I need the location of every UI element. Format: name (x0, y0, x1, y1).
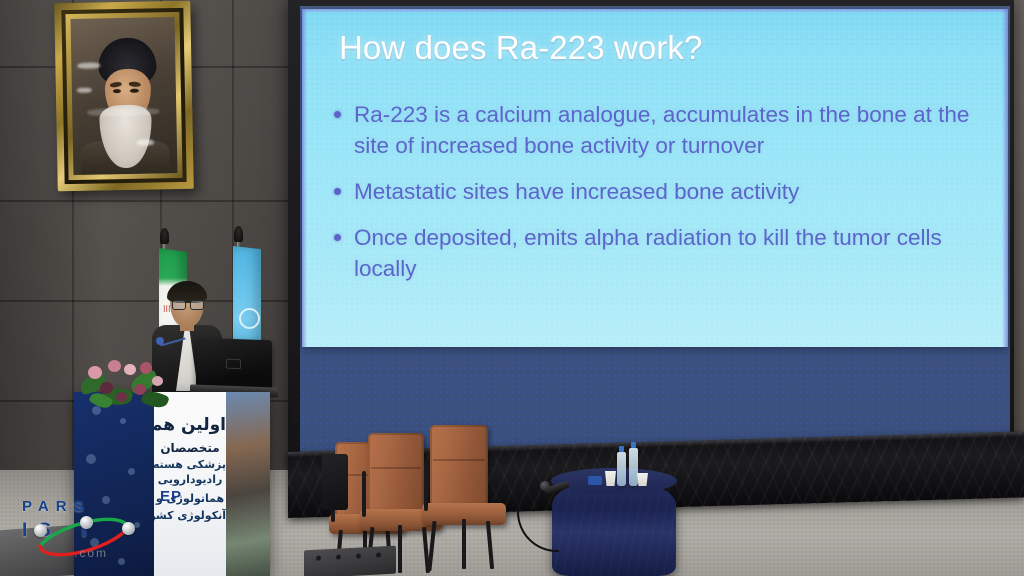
paper-cup (605, 471, 616, 486)
flag-finial-left (160, 228, 169, 244)
podium-banner: اولین همایش متخصصان پزشکی هسته‌ای رادیود… (154, 392, 226, 576)
slide-bullet-item: Metastatic sites have increased bone act… (326, 176, 986, 207)
slide-edge-left (302, 9, 307, 347)
slide-edge-top (302, 9, 1008, 13)
paper-cup (637, 473, 648, 486)
slide-edge-right (1002, 9, 1008, 347)
presentation-slide: How does Ra-223 work? Ra-223 is a calciu… (302, 9, 1008, 347)
equipment-case (322, 454, 348, 510)
blue-flag (233, 246, 261, 350)
slide-bullet-item: Ra-223 is a calcium analogue, accumulate… (326, 99, 986, 161)
banner-line-2: متخصصان (154, 442, 226, 455)
projection-screen-surface: How does Ra-223 work? Ra-223 is a calciu… (300, 6, 1010, 468)
table-cloth (552, 480, 676, 576)
laptop-logo-icon (226, 359, 241, 370)
slide-bullet-list: Ra-223 is a calcium analogue, accumulate… (326, 99, 986, 299)
banner-line-4: رادیودارویی (154, 474, 226, 486)
slide-bullet-text: Once deposited, emits alpha radiation to… (354, 222, 986, 284)
slide-bullet-text: Ra-223 is a calcium analogue, accumulate… (354, 99, 986, 161)
bullet-dot-icon (334, 188, 341, 195)
water-bottle (629, 448, 638, 486)
framed-portrait (54, 1, 194, 192)
tissue-box (588, 476, 602, 485)
conference-photo-scene: ااا How does Ra-223 work? Ra-223 is a ca… (0, 0, 1024, 576)
banner-line-3: پزشکی هسته‌ای (154, 459, 226, 471)
flower-arrangement (78, 348, 174, 408)
glasses-icon (172, 300, 202, 308)
banner-line-6: آنکولوژی کشور (154, 510, 226, 522)
slide-title: How does Ra-223 work? (339, 29, 702, 67)
podium-right-panel (226, 392, 270, 576)
stage-monitor-wedge (304, 546, 396, 576)
side-table (551, 468, 677, 576)
microphone-head-icon (540, 481, 550, 491)
slide-bullet-text: Metastatic sites have increased bone act… (354, 176, 799, 207)
bullet-dot-icon (334, 111, 341, 118)
flag-finial-right (234, 226, 243, 242)
water-bottle (617, 452, 626, 486)
podium: اولین همایش متخصصان پزشکی هسته‌ای رادیود… (74, 392, 270, 576)
podium-microphone-head-icon (156, 337, 164, 345)
podium-left-panel (74, 392, 154, 576)
banner-line-1: اولین همایش (154, 417, 226, 435)
laptop (196, 338, 272, 391)
slide-bullet-item: Once deposited, emits alpha radiation to… (326, 222, 986, 284)
portrait-image (71, 17, 178, 175)
bullet-dot-icon (334, 234, 341, 241)
banner-latin-overlay: EP (160, 488, 182, 505)
chair (422, 425, 520, 561)
